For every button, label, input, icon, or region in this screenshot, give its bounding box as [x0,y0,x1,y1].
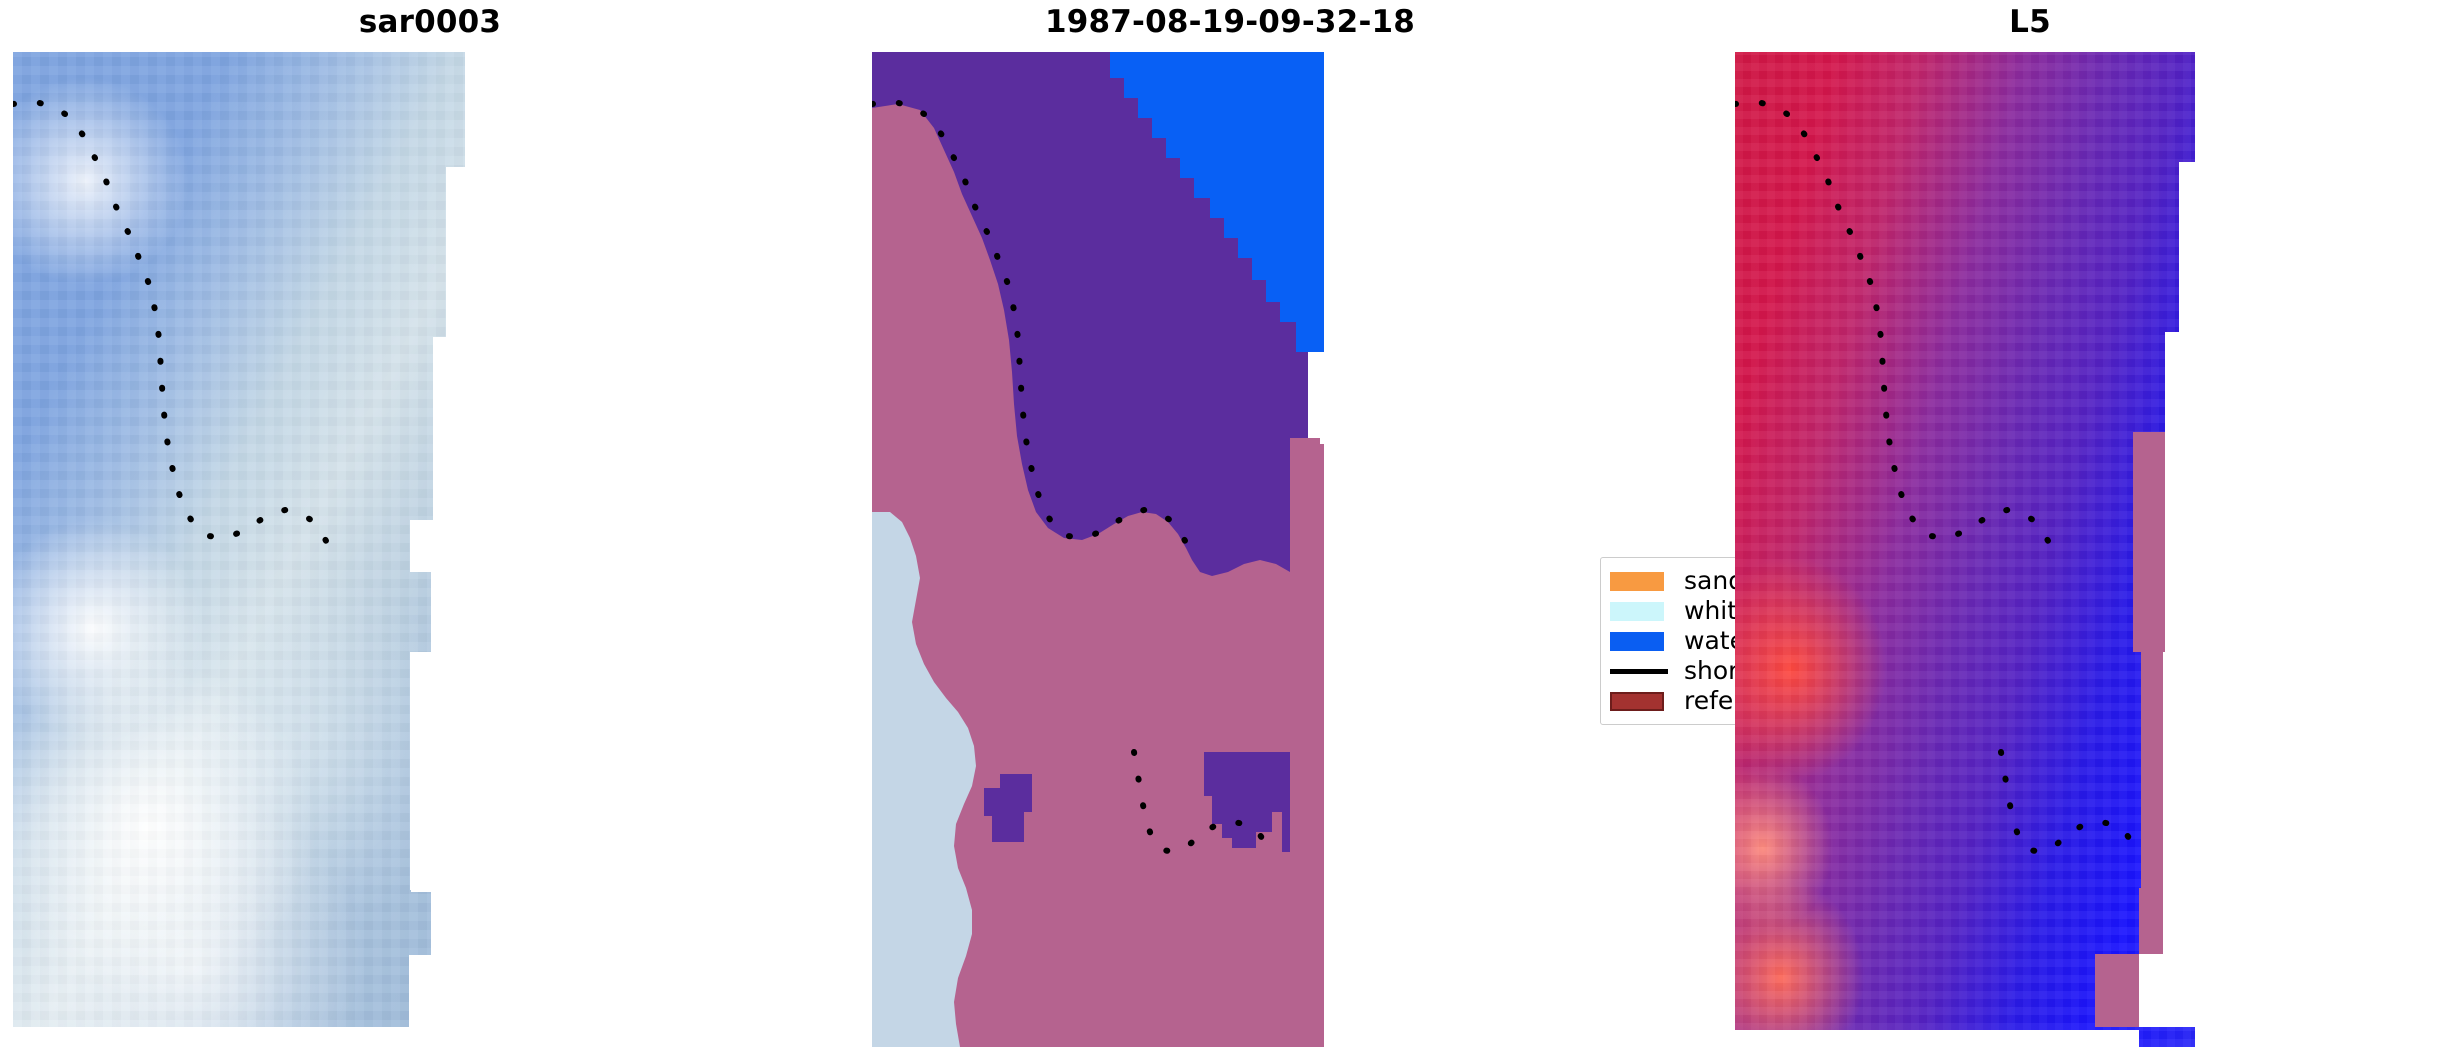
l5-raster [1735,52,2195,1047]
sar-raster [13,52,465,1047]
legend-item-water[interactable]: water [1610,626,1735,656]
legend-swatch-wrap-whitewater [1610,602,1676,621]
sand-swatch-icon [1610,572,1664,591]
panel-sar-axes [13,52,465,1047]
legend-item-reference[interactable]: referen [1610,686,1735,716]
panel-l5-title: L5 [1600,2,2460,42]
legend-label-water: water [1676,626,1735,656]
legend-label-whitewater: whitew [1676,596,1735,626]
legend-label-sand: sand [1676,566,1735,596]
water-swatch-icon [1610,632,1664,651]
panel-l5: L5 [1600,0,2460,1062]
figure-canvas: sar0003 [0,0,2460,1062]
whitewater-swatch-icon [1610,602,1664,621]
legend-label-reference: referen [1676,686,1735,716]
panel-classified-title: 1987-08-19-09-32-18 [860,2,1600,42]
l5-nodata-bottom [1735,52,2195,1047]
legend-swatch-wrap-shoreline [1610,669,1676,674]
legend-swatch-wrap-reference [1610,692,1676,711]
class-right-margin [872,52,1324,1047]
legend-clip-region: sand whitew water shorel [1596,548,1735,732]
legend-item-whitewater[interactable]: whitew [1610,596,1735,626]
panel-classified-axes [872,52,1324,1047]
panel-l5-axes [1735,52,2195,1047]
legend-item-shoreline[interactable]: shorel [1610,656,1735,686]
sar-nodata-bottom [13,52,465,1047]
panel-sar-title: sar0003 [0,2,860,42]
legend-label-shoreline: shorel [1676,656,1735,686]
legend-swatch-wrap-water [1610,632,1676,651]
legend: sand whitew water shorel [1600,557,1735,725]
legend-item-sand[interactable]: sand [1610,566,1735,596]
panel-sar: sar0003 [0,0,860,1062]
panel-classified: 1987-08-19-09-32-18 [860,0,1600,1062]
classified-raster [872,52,1324,1047]
shoreline-line-icon [1610,669,1668,674]
legend-swatch-wrap-sand [1610,572,1676,591]
reference-swatch-icon [1610,692,1664,711]
